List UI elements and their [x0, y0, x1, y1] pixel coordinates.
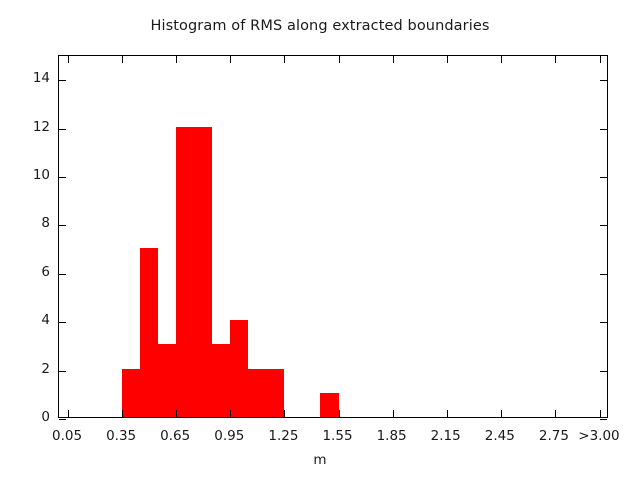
x-axis-tick-label: 0.35 [91, 428, 151, 444]
plot-area [59, 56, 607, 417]
histogram-bar [194, 127, 212, 417]
y-axis-tick-label: 6 [10, 264, 50, 280]
y-axis-tick-label: 12 [10, 119, 50, 135]
histogram-bar [248, 369, 266, 417]
y-axis-tick-label: 0 [10, 409, 50, 425]
y-axis-tick-right [600, 80, 607, 81]
x-axis-tick-top [600, 56, 601, 63]
chart-title: Histogram of RMS along extracted boundar… [0, 18, 640, 34]
x-axis-tick-top [68, 56, 69, 63]
y-axis-tick [59, 80, 66, 81]
x-axis-tick-label: 1.25 [253, 428, 313, 444]
x-axis-title: m [0, 452, 640, 468]
x-axis-tick [122, 410, 123, 417]
plot-frame [58, 55, 608, 418]
y-axis-tick-label: 10 [10, 167, 50, 183]
y-axis-tick-label: 14 [10, 70, 50, 86]
x-axis-tick [555, 410, 556, 417]
y-axis-tick-label: 8 [10, 215, 50, 231]
y-axis-tick-right [600, 225, 607, 226]
x-axis-tick-top [339, 56, 340, 63]
y-axis-tick-right [600, 371, 607, 372]
x-axis-tick-label: 1.55 [308, 428, 368, 444]
x-axis-tick-label: 1.85 [362, 428, 422, 444]
y-axis-tick-right [600, 177, 607, 178]
x-axis-tick [230, 410, 231, 417]
y-axis-tick [59, 371, 66, 372]
x-axis-tick [393, 410, 394, 417]
y-axis-tick [59, 129, 66, 130]
y-axis-tick-right [600, 274, 607, 275]
histogram-bar [266, 369, 284, 417]
y-axis-tick [59, 225, 66, 226]
x-axis-tick-top [230, 56, 231, 63]
y-axis-tick [59, 322, 66, 323]
x-axis-tick-top [555, 56, 556, 63]
x-axis-tick-label: 0.65 [145, 428, 205, 444]
x-axis-tick-top [122, 56, 123, 63]
histogram-figure: Histogram of RMS along extracted boundar… [0, 0, 640, 480]
x-axis-tick [176, 410, 177, 417]
x-axis-tick [600, 410, 601, 417]
y-axis-tick-right [600, 419, 607, 420]
x-axis-tick [339, 410, 340, 417]
x-axis-tick-label: 2.45 [470, 428, 530, 444]
y-axis-tick [59, 177, 66, 178]
histogram-bar [212, 344, 230, 417]
x-axis-tick-label: 2.15 [416, 428, 476, 444]
histogram-bar [158, 344, 176, 417]
x-axis-tick [68, 410, 69, 417]
y-axis-tick [59, 274, 66, 275]
x-axis-tick-top [393, 56, 394, 63]
y-axis-tick-label: 2 [10, 361, 50, 377]
y-axis-tick [59, 419, 66, 420]
histogram-bar [122, 369, 140, 417]
x-axis-tick [501, 410, 502, 417]
x-axis-tick-top [501, 56, 502, 63]
histogram-bar [176, 127, 194, 417]
y-axis-tick-right [600, 129, 607, 130]
histogram-bar [140, 248, 158, 417]
x-axis-tick [284, 410, 285, 417]
x-axis-tick-top [284, 56, 285, 63]
histogram-bar [320, 393, 338, 417]
x-axis-tick-label: >3.00 [569, 428, 629, 444]
y-axis-tick-label: 4 [10, 312, 50, 328]
histogram-bar [230, 320, 248, 417]
x-axis-tick-label: 0.05 [37, 428, 97, 444]
x-axis-tick-top [176, 56, 177, 63]
x-axis-tick [447, 410, 448, 417]
y-axis-tick-right [600, 322, 607, 323]
x-axis-tick-top [447, 56, 448, 63]
x-axis-tick-label: 0.95 [199, 428, 259, 444]
